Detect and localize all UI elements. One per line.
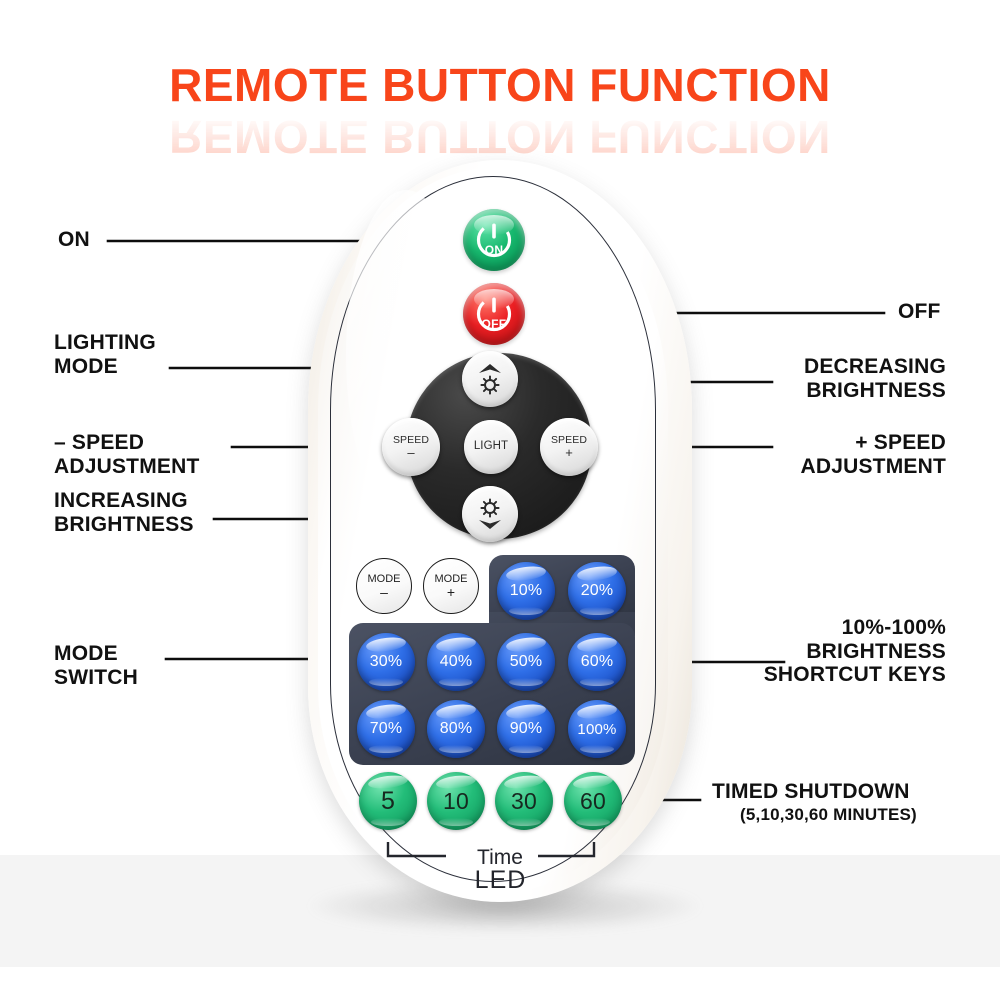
poster-canvas: REMOTE BUTTON FUNCTION REMOTE BUTTON FUN… [0,0,1000,1000]
timer-key-60[interactable]: 60 [564,772,622,830]
callout-timed-shutdown-sub: (5,10,30,60 MINUTES) [740,805,917,824]
brightness-key-40[interactable]: 40% [427,633,485,691]
brightness-key-100[interactable]: 100% [568,700,626,758]
brightness-key-label: 50% [510,653,543,671]
brightness-key-label: 30% [370,653,403,671]
power-on-button[interactable]: ON [463,209,525,271]
gloss-highlight [365,703,406,721]
power-on-label: ON [463,243,525,257]
brightness-key-label: 10% [510,582,543,600]
gloss-lower [439,818,473,826]
callout-brightness-shortcut: 10%-100% BRIGHTNESS SHORTCUT KEYS [600,616,946,687]
brightness-decrease-button[interactable] [462,486,518,542]
brightness-key-label: 80% [440,720,473,738]
brightness-key-10[interactable]: 10% [497,562,555,620]
brightness-key-label: 40% [440,653,473,671]
brightness-key-50[interactable]: 50% [497,633,555,691]
gloss-lower [509,678,543,686]
timer-key-label: 5 [381,787,395,816]
gloss-highlight [505,636,546,654]
brightness-key-label: 70% [370,720,403,738]
brightness-key-80[interactable]: 80% [427,700,485,758]
brightness-key-label: 100% [577,721,616,738]
timer-key-label: 30 [511,788,537,815]
callout-mode-switch: MODE SWITCH [54,642,138,689]
page-title: REMOTE BUTTON FUNCTION [0,58,1000,112]
gloss-highlight [576,703,617,721]
callout-speed-minus: – SPEED ADJUSTMENT [54,431,200,478]
timer-key-label: 60 [580,788,606,815]
gloss-lower [509,745,543,753]
gloss-highlight [505,703,546,721]
callout-increasing-brightness: INCREASING BRIGHTNESS [54,489,194,536]
power-off-label: OFF [463,317,525,331]
brightness-key-90[interactable]: 90% [497,700,555,758]
brightness-key-label: 20% [581,582,614,600]
mode-minus-symbol: – [380,586,388,599]
mode-minus-button[interactable]: MODE – [356,558,412,614]
callout-decreasing-brightness: DECREASING BRIGHTNESS [590,355,946,402]
gloss-lower [580,607,614,615]
light-button-label: LIGHT [474,441,508,453]
callout-off: OFF [898,300,941,324]
callout-on: ON [58,228,90,252]
brightness-key-30[interactable]: 30% [357,633,415,691]
gloss-lower [509,607,543,615]
brightness-up-icon [472,360,508,398]
gloss-highlight [576,565,617,583]
power-off-button[interactable]: OFF [463,283,525,345]
brightness-down-icon [472,495,508,533]
gloss-highlight [435,703,476,721]
brightness-increase-button[interactable] [462,351,518,407]
gloss-lower [371,818,405,826]
brightness-key-label: 90% [510,720,543,738]
gloss-lower [507,818,541,826]
callout-speed-plus: + SPEED ADJUSTMENT [590,431,946,478]
speed-minus-symbol: – [407,447,414,459]
gloss-lower [369,745,403,753]
gloss-lower [369,678,403,686]
led-label: LED [408,866,593,895]
brightness-key-20[interactable]: 20% [568,562,626,620]
speed-plus-symbol: + [565,447,573,459]
gloss-lower [576,818,610,826]
brightness-key-70[interactable]: 70% [357,700,415,758]
speed-minus-button[interactable]: SPEED – [382,418,440,476]
timer-key-label: 10 [443,788,469,815]
callout-lighting-mode: LIGHTING MODE [54,331,156,378]
gloss-highlight [435,636,476,654]
gloss-highlight [505,565,546,583]
page-title-reflection: REMOTE BUTTON FUNCTION [0,110,1000,164]
mode-plus-button[interactable]: MODE + [423,558,479,614]
timer-key-10[interactable]: 10 [427,772,485,830]
gloss-highlight [365,636,406,654]
callout-timed-shutdown: TIMED SHUTDOWN [712,780,910,804]
brightness-key-label: 60% [581,653,614,671]
gloss-lower [439,678,473,686]
light-mode-button[interactable]: LIGHT [464,420,518,474]
timer-key-30[interactable]: 30 [495,772,553,830]
gloss-lower [439,745,473,753]
timer-key-5[interactable]: 5 [359,772,417,830]
mode-plus-symbol: + [447,586,455,599]
gloss-lower [580,745,614,753]
